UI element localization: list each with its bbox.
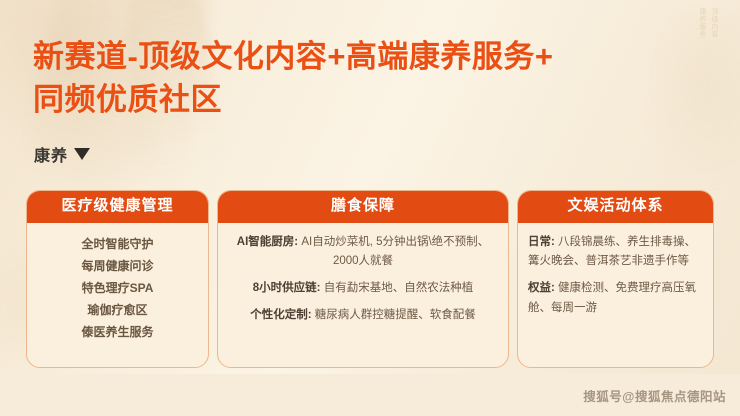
card-paragraph: 8小时供应链: 自有勐宋基地、自然农法种植 — [228, 279, 498, 299]
card-title: 医疗级健康管理 — [27, 191, 208, 223]
feature-card: 文娱活动体系 日常: 八段锦晨练、养生排毒操、篝火晚会、普洱茶艺非遗手作等 权益… — [517, 190, 714, 368]
card-paragraph: AI智能厨房: AI自动炒菜机, 5分钟出锅\绝不预制、2000人就餐 — [228, 233, 498, 273]
card-paragraph-label: 日常: — [528, 236, 555, 248]
list-item: 瑜伽疗愈区 — [37, 299, 198, 321]
vertical-decoration-text: 康养服务 顶级内容 — [684, 8, 718, 62]
section-label: 康养 — [34, 142, 90, 166]
section-label-text: 康养 — [34, 142, 68, 166]
card-paragraph: 权益: 健康检测、免费理疗高压氧舱、每周一游 — [528, 279, 703, 319]
card-paragraph-text: AI自动炒菜机, 5分钟出锅\绝不预制、2000人就餐 — [298, 236, 489, 268]
slide-container: 康养服务 顶级内容 新赛道-顶级文化内容+高端康养服务+ 同频优质社区 康养 医… — [0, 0, 740, 416]
vertical-decoration-line-1: 康养服务 — [697, 8, 706, 62]
card-paragraph-text: 糖尿病人群控糖提醒、软食配餐 — [312, 309, 476, 321]
card-paragraph-label: 个性化定制: — [250, 309, 311, 321]
card-title: 膳食保障 — [218, 191, 508, 223]
page-title: 新赛道-顶级文化内容+高端康养服务+ 同频优质社区 — [33, 36, 673, 122]
card-paragraph-label: 8小时供应链: — [253, 282, 321, 294]
card-title: 文娱活动体系 — [518, 191, 713, 223]
list-item: 特色理疗SPA — [37, 277, 198, 299]
card-item-list: 全时智能守护 每周健康问诊 特色理疗SPA 瑜伽疗愈区 傣医养生服务 — [37, 233, 198, 344]
caret-down-icon — [74, 148, 90, 160]
footer-bar: 搜狐号@搜狐焦点德阳站 — [0, 374, 740, 416]
card-paragraph-text: 自有勐宋基地、自然农法种植 — [321, 282, 474, 294]
list-item: 傣医养生服务 — [37, 321, 198, 343]
list-item: 全时智能守护 — [37, 233, 198, 255]
card-paragraph-label: AI智能厨房: — [237, 236, 298, 248]
page-title-line-2: 同频优质社区 — [33, 79, 673, 122]
feature-card: 膳食保障 AI智能厨房: AI自动炒菜机, 5分钟出锅\绝不预制、2000人就餐… — [217, 190, 509, 368]
list-item: 每周健康问诊 — [37, 255, 198, 277]
card-paragraph: 日常: 八段锦晨练、养生排毒操、篝火晚会、普洱茶艺非遗手作等 — [528, 233, 703, 273]
card-paragraph-label: 权益: — [528, 282, 555, 294]
card-paragraph: 个性化定制: 糖尿病人群控糖提醒、软食配餐 — [228, 306, 498, 326]
watermark-text: 搜狐号@搜狐焦点德阳站 — [583, 386, 726, 405]
page-title-line-1: 新赛道-顶级文化内容+高端康养服务+ — [33, 36, 673, 79]
feature-card: 医疗级健康管理 全时智能守护 每周健康问诊 特色理疗SPA 瑜伽疗愈区 傣医养生… — [26, 190, 209, 368]
vertical-decoration-line-2: 顶级内容 — [709, 8, 718, 62]
feature-card-row: 医疗级健康管理 全时智能守护 每周健康问诊 特色理疗SPA 瑜伽疗愈区 傣医养生… — [26, 190, 714, 368]
